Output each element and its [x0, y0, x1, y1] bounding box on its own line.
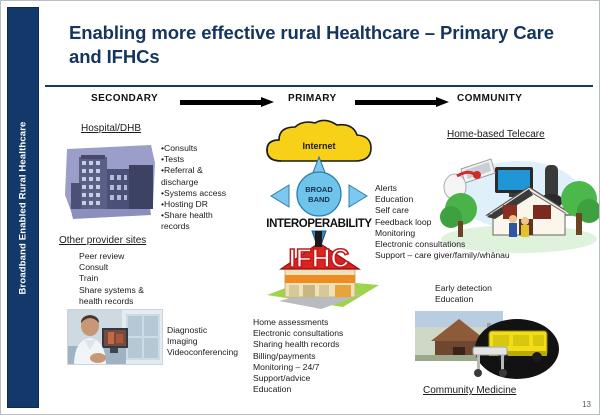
list-item: Home assessments — [253, 317, 343, 328]
page-number: 13 — [582, 400, 591, 409]
doctor-caption: Diagnostic Imaging Videoconferencing — [167, 325, 238, 359]
list-item: •Referral & — [161, 165, 226, 176]
telecare-heading: Home-based Telecare — [447, 129, 545, 140]
other-provider-heading: Other provider sites — [59, 235, 146, 246]
interoperability-label: INTEROPERABILITY — [266, 218, 372, 230]
list-item: Electronic consultations — [375, 239, 510, 250]
title-block: Enabling more effective rural Healthcare… — [45, 9, 593, 87]
list-item: Self care — [375, 205, 510, 216]
caption-line: Imaging — [167, 336, 238, 347]
list-item: Feedback loop — [375, 217, 510, 228]
list-item: Support/advice — [253, 373, 343, 384]
flow-step-secondary: SECONDARY — [91, 93, 158, 104]
list-item: Train — [79, 273, 144, 284]
other-provider-list: Peer review Consult Train Share systems … — [79, 251, 144, 307]
broadband-label-top: BROAD — [305, 185, 333, 194]
sidebar-label: Broadband Enabled Rural Healthcare — [18, 121, 29, 294]
right-arrow-icon — [355, 97, 449, 106]
list-item: Education — [435, 294, 492, 305]
list-item: •Systems access — [161, 188, 226, 199]
caption-line: Videoconferencing — [167, 347, 238, 358]
slide: Broadband Enabled Rural Healthcare Enabl… — [0, 0, 600, 415]
internet-label: Internet — [302, 141, 335, 151]
list-item: Share systems & — [79, 285, 144, 296]
right-arrow-icon — [180, 97, 274, 106]
list-item: Early detection — [435, 283, 492, 294]
list-item: health records — [79, 296, 144, 307]
rural-clinic-mobile-unit-image — [415, 307, 575, 383]
list-item: •Hosting DR — [161, 199, 226, 210]
ifhc-label: IFHC — [289, 243, 350, 273]
flow-step-primary: PRIMARY — [288, 93, 337, 104]
sidebar-band: Broadband Enabled Rural Healthcare — [7, 7, 39, 408]
radiologist-photo — [67, 309, 163, 365]
flow-header: SECONDARY PRIMARY COMMUNITY — [45, 91, 593, 115]
broadband-ifhc-graphic: Internet BROAD BAND INTEROPERABILITY — [251, 119, 387, 311]
list-item: Monitoring — [375, 228, 510, 239]
primary-services-list: Home assessments Electronic consultation… — [253, 317, 343, 395]
flow-step-community: COMMUNITY — [457, 93, 522, 104]
list-item: •Share health — [161, 210, 226, 221]
early-detection-list: Early detection Education — [435, 283, 492, 305]
caption-line: Diagnostic — [167, 325, 238, 336]
list-item: discharge — [161, 177, 226, 188]
hospital-building-icon — [63, 143, 159, 225]
list-item: Support – care giver/family/whānau — [375, 250, 510, 261]
hospital-heading: Hospital/DHB — [81, 123, 141, 134]
list-item: records — [161, 221, 226, 232]
list-item: •Tests — [161, 154, 226, 165]
community-medicine-heading: Community Medicine — [423, 385, 516, 396]
list-item: •Consults — [161, 143, 226, 154]
telecare-items-list: Alerts Education Self care Feedback loop… — [375, 183, 510, 261]
list-item: Electronic consultations — [253, 328, 343, 339]
broadband-circle — [297, 172, 341, 216]
list-item: Sharing health records — [253, 339, 343, 350]
list-item: Peer review — [79, 251, 144, 262]
list-item: Alerts — [375, 183, 510, 194]
hospital-bullet-list: •Consults •Tests •Referral & discharge •… — [161, 143, 226, 232]
list-item: Monitoring – 24/7 — [253, 362, 343, 373]
list-item: Education — [375, 194, 510, 205]
broadband-label-bottom: BAND — [308, 195, 330, 204]
page-title: Enabling more effective rural Healthcare… — [69, 21, 583, 68]
list-item: Billing/payments — [253, 351, 343, 362]
list-item: Education — [253, 384, 343, 395]
list-item: Consult — [79, 262, 144, 273]
